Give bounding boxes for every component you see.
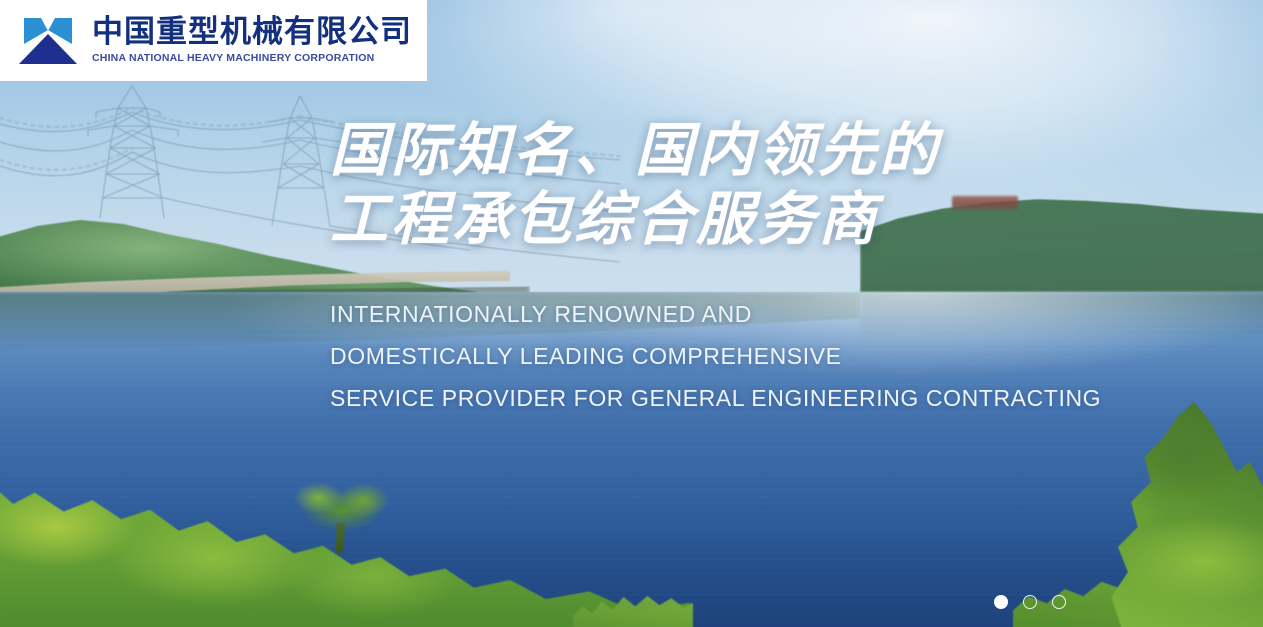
logo-text-block: 中国重型机械有限公司 CHINA NATIONAL HEAVY MACHINER… (92, 15, 412, 67)
company-name-cn: 中国重型机械有限公司 (92, 15, 412, 49)
hero-headline: 国际知名、国内领先的 工程承包综合服务商 (330, 118, 1170, 252)
carousel-dot-2[interactable] (1023, 595, 1037, 609)
carousel-dots[interactable] (994, 595, 1066, 609)
hero-subheadline-line-3: SERVICE PROVIDER FOR GENERAL ENGINEERING… (330, 378, 1170, 420)
logo-plate[interactable]: 中国重型机械有限公司 CHINA NATIONAL HEAVY MACHINER… (0, 0, 427, 81)
hero-subheadline-line-1: INTERNATIONALLY RENOWNED AND (330, 294, 1170, 336)
hero-copy-block: 国际知名、国内领先的 工程承包综合服务商 INTERNATIONALLY REN… (330, 118, 1170, 419)
carousel-dot-1[interactable] (994, 595, 1008, 609)
company-name-en: CHINA NATIONAL HEAVY MACHINERY CORPORATI… (92, 52, 412, 65)
carousel-dot-3[interactable] (1052, 595, 1066, 609)
foreground-tree (288, 477, 396, 551)
mountain-peaks-logo-icon (14, 14, 82, 68)
hero-headline-line-2: 工程承包综合服务商 (330, 187, 1170, 252)
hero-headline-line-1: 国际知名、国内领先的 (330, 116, 940, 184)
hero-subheadline: INTERNATIONALLY RENOWNED AND DOMESTICALL… (330, 294, 1170, 420)
hero-banner: 中国重型机械有限公司 CHINA NATIONAL HEAVY MACHINER… (0, 0, 1263, 627)
logo-mark-svg (14, 14, 82, 68)
tree-trunk (335, 523, 345, 553)
hero-subheadline-line-2: DOMESTICALLY LEADING COMPREHENSIVE (330, 336, 1170, 378)
